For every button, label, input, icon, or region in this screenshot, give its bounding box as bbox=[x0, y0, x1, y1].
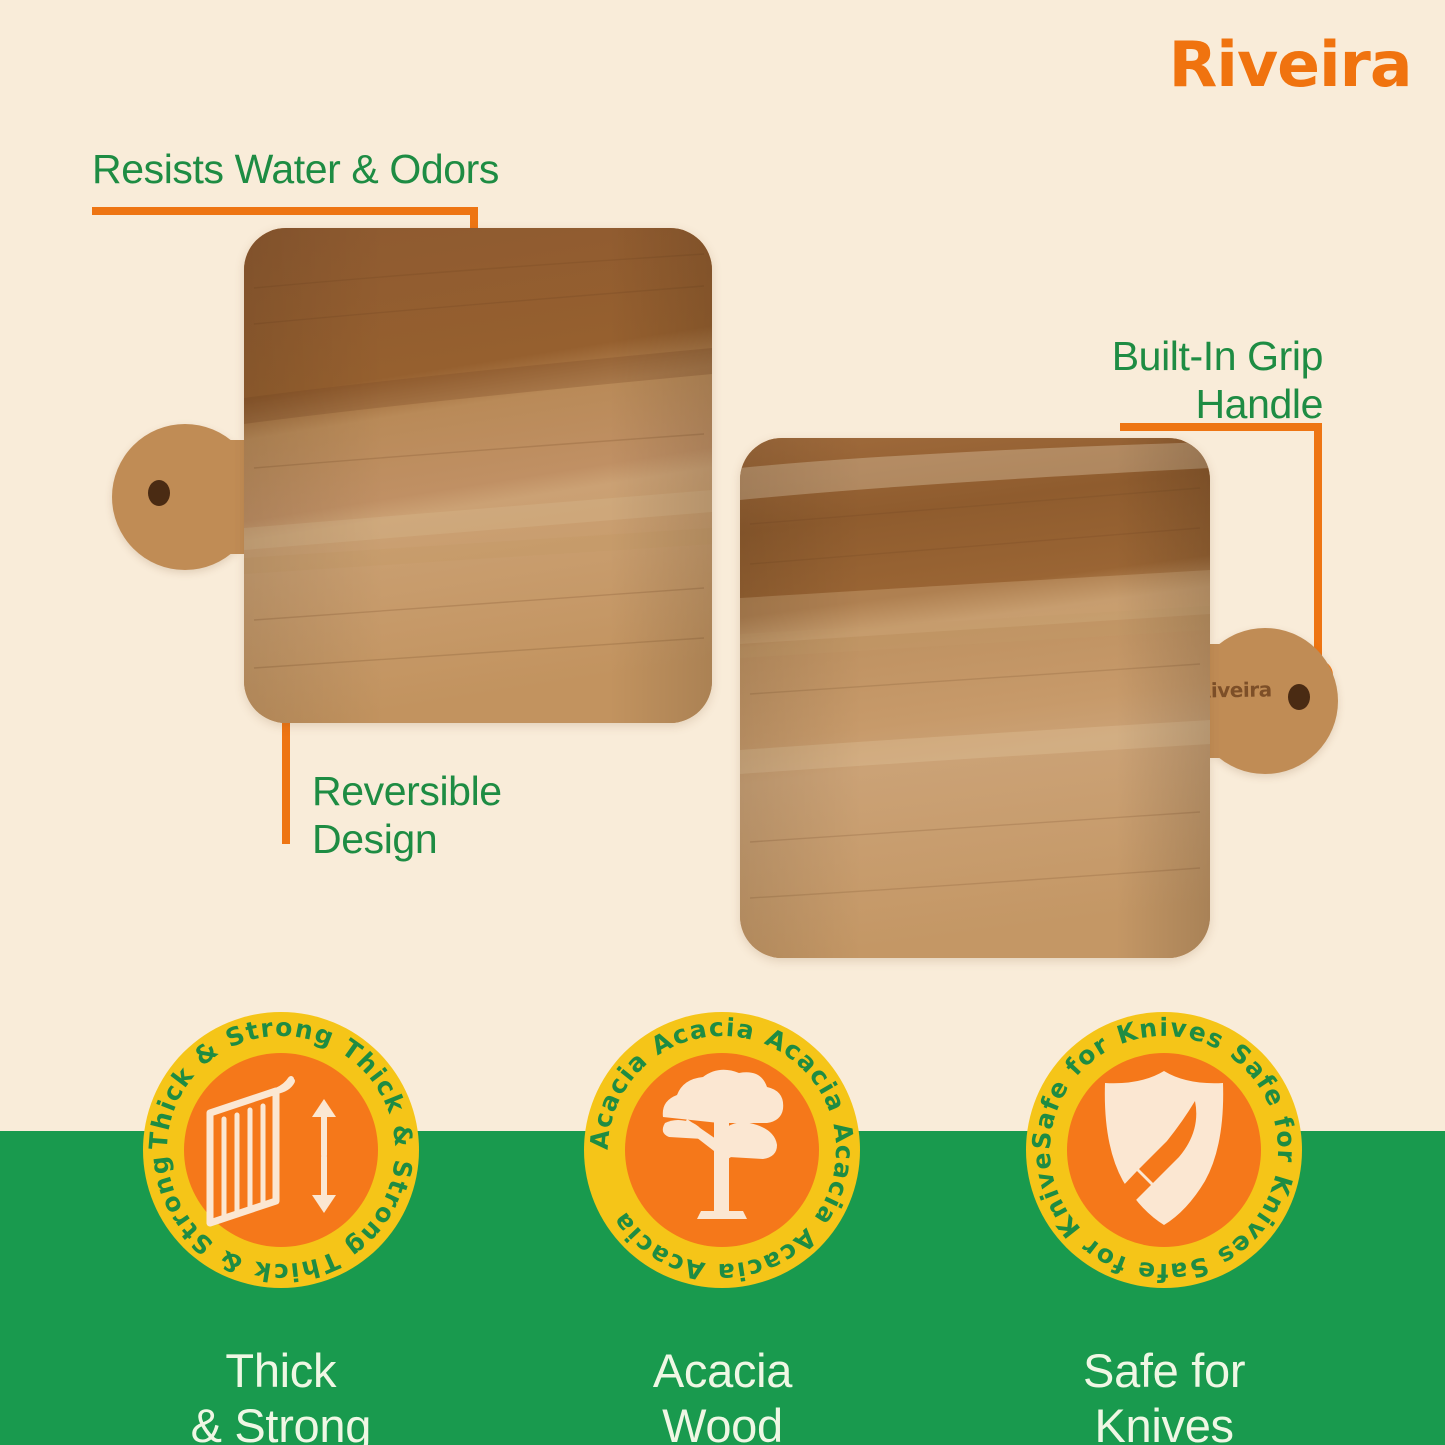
badge-label-1: Thick & Strong bbox=[191, 1343, 371, 1445]
leader-line-horizontal-2 bbox=[1120, 423, 1322, 431]
hanging-hole-left bbox=[148, 480, 170, 506]
feature-badge-row: Thick & Strong Thick & Strong Thick & St… bbox=[0, 1005, 1445, 1445]
callout-built-in-grip-handle: Built-In Grip Handle bbox=[1112, 333, 1323, 429]
badge-acacia-wood: Acacia Acacia Acacia Acacia Acacia Acaci… bbox=[552, 1005, 892, 1445]
badge-label-3: Safe for Knives bbox=[1083, 1343, 1245, 1445]
badge-label-2: Acacia Wood bbox=[653, 1343, 792, 1445]
callout-reversible-design: Reversible Design bbox=[312, 768, 502, 864]
board-surface-right bbox=[740, 438, 1210, 958]
hanging-hole-right bbox=[1288, 684, 1310, 710]
badge-safe-for-knives: Safe for Knives Safe for Knives Safe for… bbox=[994, 1005, 1334, 1445]
leader-line-horizontal-1 bbox=[92, 207, 478, 215]
cutting-board-back: Riveira bbox=[740, 438, 1340, 958]
badge-seal-2: Acacia Acacia Acacia Acacia Acacia Acaci… bbox=[577, 1005, 867, 1295]
badge-thick-and-strong: Thick & Strong Thick & Strong Thick & St… bbox=[111, 1005, 451, 1445]
callout-resists-water-odors: Resists Water & Odors bbox=[92, 146, 499, 194]
product-infographic: Riveira Resists Water & Odors Built-In G… bbox=[0, 0, 1445, 1445]
badge-seal-3: Safe for Knives Safe for Knives Safe for… bbox=[1019, 1005, 1309, 1295]
badge-seal-1: Thick & Strong Thick & Strong Thick & St… bbox=[136, 1005, 426, 1295]
board-surface-left bbox=[244, 228, 712, 723]
brand-logo: Riveira bbox=[1168, 28, 1411, 101]
cutting-board-front bbox=[112, 228, 712, 723]
